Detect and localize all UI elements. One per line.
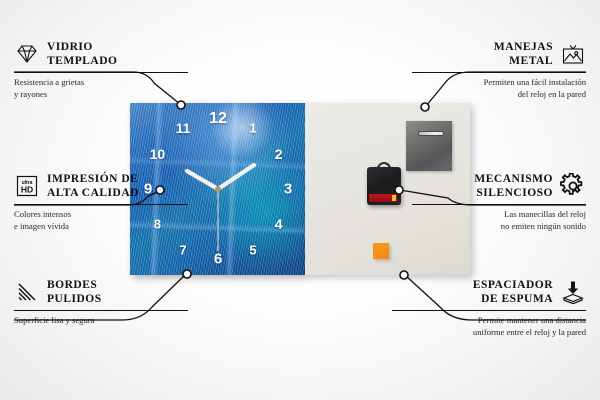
callout-subtitle-line1: Permite mantener una distancia [478,315,586,325]
callout-subtitle: Permiten una fácil instalación del reloj… [412,77,586,100]
callout-title-line1: IMPRESIÓN DE [47,173,138,185]
callout-title-line2: SILENCIOSO [476,187,553,199]
callout-rule [14,310,188,311]
metal-hanger-plate [406,121,452,171]
callout-head: BORDES PULIDOS [14,278,188,306]
foam-spacer-icon [560,279,586,305]
callout-vidrio-templado: VIDRIO TEMPLADO Resistencia a grietas y … [14,40,188,100]
callout-subtitle-line2: uniforme entre el reloj y la pared [473,327,586,337]
callout-subtitle-line2: y rayones [14,89,47,99]
callout-subtitle-line2: no emiten ningún sonido [501,221,586,231]
callout-subtitle: Superficie lisa y segura [14,315,188,327]
callout-title: IMPRESIÓN DE ALTA CALIDAD [47,172,139,200]
callout-rule [412,72,586,73]
callout-espaciador-espuma: ESPACIADOR DE ESPUMA Permite mantener un… [392,278,586,338]
callout-subtitle-line1: Superficie lisa y segura [14,315,94,325]
foam-spacer [373,243,389,259]
callout-head: ESPACIADOR DE ESPUMA [392,278,586,306]
picture-hanger-icon [560,41,586,67]
callout-subtitle-line1: Las manecillas del reloj [504,209,586,219]
callout-mecanismo-silencioso: MECANISMO SILENCIOSO Las manecillas del … [412,172,586,232]
svg-text:HD: HD [21,185,33,195]
clock-face-panel: 12 1 2 3 4 5 6 7 8 9 10 11 [130,103,305,275]
callout-rule [14,72,188,73]
callout-title-line2: TEMPLADO [47,55,117,67]
callout-subtitle-line1: Colores intensos [14,209,71,219]
callout-title-line1: VIDRIO [47,41,93,53]
callout-rule [412,204,586,205]
gear-icon [560,173,586,199]
callout-head: MANEJAS METAL [412,40,586,68]
callout-subtitle: Las manecillas del reloj no emiten ningú… [412,209,586,232]
battery [369,194,397,202]
infographic-canvas: 12 1 2 3 4 5 6 7 8 9 10 11 [0,0,600,400]
callout-subtitle: Resistencia a grietas y rayones [14,77,188,100]
callout-title-line1: ESPACIADOR [473,279,553,291]
battery-terminal [392,195,396,201]
callout-title: VIDRIO TEMPLADO [47,40,117,68]
callout-title: MANEJAS METAL [494,40,553,68]
callout-rule [392,310,586,311]
callout-title-line2: PULIDOS [47,293,102,305]
callout-title-line1: MANEJAS [494,41,553,53]
callout-title-line1: BORDES [47,279,97,291]
callout-head: MECANISMO SILENCIOSO [412,172,586,200]
clock-mechanism [367,167,401,205]
callout-title: MECANISMO SILENCIOSO [474,172,553,200]
callout-title-line2: ALTA CALIDAD [47,187,139,199]
mechanism-hanging-loop [377,162,391,170]
callout-title-line1: MECANISMO [474,173,553,185]
callout-subtitle-line2: e imagen vívida [14,221,69,231]
callout-subtitle-line2: del reloj en la pared [518,89,586,99]
hanger-slot [418,131,444,136]
callout-subtitle: Permite mantener una distancia uniforme … [392,315,586,338]
callout-title-line2: METAL [509,55,553,67]
callout-bordes-pulidos: BORDES PULIDOS Superficie lisa y segura [14,278,188,327]
diamond-icon [14,41,40,67]
callout-head: VIDRIO TEMPLADO [14,40,188,68]
callout-manejas-metal: MANEJAS METAL Permiten una fácil instala… [412,40,586,100]
polished-edge-icon [14,279,40,305]
callout-subtitle-line1: Resistencia a grietas [14,77,84,87]
callout-subtitle-line1: Permiten una fácil instalación [484,77,586,87]
callout-title: BORDES PULIDOS [47,278,102,306]
callout-title: ESPACIADOR DE ESPUMA [473,278,553,306]
clock-hands [130,103,305,275]
ultra-hd-icon: ultra HD [14,173,40,199]
callout-title-line2: DE ESPUMA [481,293,553,305]
